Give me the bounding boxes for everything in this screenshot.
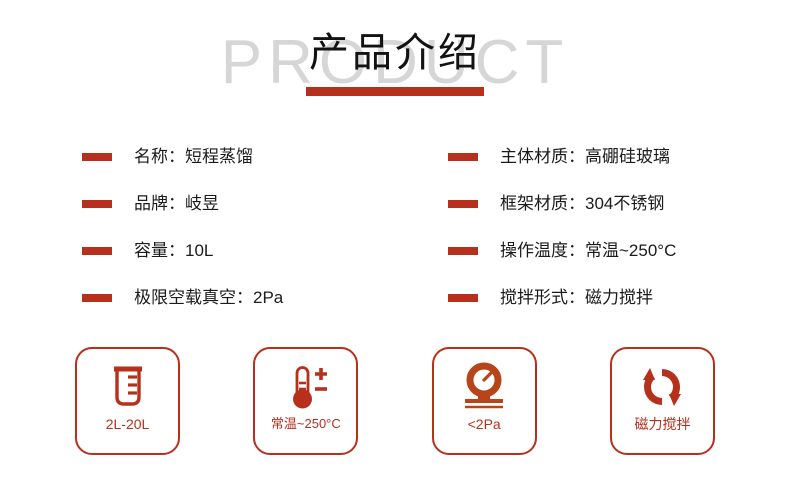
title-underline-bar bbox=[306, 87, 484, 96]
spec-row: 主体材质：高硼硅玻璃 bbox=[448, 133, 676, 180]
spec-label: 极限空载真空：2Pa bbox=[134, 289, 283, 306]
spec-column-left: 名称：短程蒸馏 品牌：岐昱 容量：10L 极限空载真空：2Pa bbox=[82, 133, 283, 321]
spec-row: 框架材质：304不锈钢 bbox=[448, 180, 676, 227]
dash-marker-icon bbox=[82, 153, 112, 161]
spec-column-right: 主体材质：高硼硅玻璃 框架材质：304不锈钢 操作温度：常温~250°C 搅拌形… bbox=[448, 133, 676, 321]
page-header: PRODUCT 产品介绍 bbox=[0, 0, 790, 112]
specification-list: 名称：短程蒸馏 品牌：岐昱 容量：10L 极限空载真空：2Pa 主体材质：高硼硅… bbox=[0, 133, 790, 323]
pressure-gauge-icon bbox=[458, 361, 510, 413]
feature-card-label: 常温~250°C bbox=[271, 417, 341, 430]
spec-label: 操作温度：常温~250°C bbox=[500, 242, 676, 259]
spec-row: 极限空载真空：2Pa bbox=[82, 274, 283, 321]
page-title: 产品介绍 bbox=[0, 33, 790, 73]
spec-label: 容量：10L bbox=[134, 242, 213, 259]
dash-marker-icon bbox=[448, 200, 478, 208]
spec-label: 主体材质：高硼硅玻璃 bbox=[500, 148, 670, 165]
spec-row: 品牌：岐昱 bbox=[82, 180, 283, 227]
feature-card-capacity: 2L-20L bbox=[75, 347, 180, 455]
feature-card-label: 2L-20L bbox=[106, 417, 150, 431]
dash-marker-icon bbox=[448, 247, 478, 255]
spec-row: 搅拌形式：磁力搅拌 bbox=[448, 274, 676, 321]
spec-label: 搅拌形式：磁力搅拌 bbox=[500, 289, 653, 306]
thermometer-icon bbox=[281, 361, 331, 413]
dash-marker-icon bbox=[82, 294, 112, 302]
dash-marker-icon bbox=[82, 200, 112, 208]
spec-row: 操作温度：常温~250°C bbox=[448, 227, 676, 274]
dash-marker-icon bbox=[82, 247, 112, 255]
feature-card-vacuum: <2Pa bbox=[432, 347, 537, 455]
spec-label: 名称：短程蒸馏 bbox=[134, 148, 253, 165]
spec-label: 框架材质：304不锈钢 bbox=[500, 195, 664, 212]
beaker-icon bbox=[105, 361, 151, 413]
dash-marker-icon bbox=[448, 294, 478, 302]
spec-row: 名称：短程蒸馏 bbox=[82, 133, 283, 180]
spec-label: 品牌：岐昱 bbox=[134, 195, 219, 212]
spec-row: 容量：10L bbox=[82, 227, 283, 274]
feature-card-label: <2Pa bbox=[468, 417, 501, 431]
feature-card-stirring: 磁力搅拌 bbox=[610, 347, 715, 455]
refresh-cycle-icon bbox=[637, 361, 687, 413]
feature-card-temperature: 常温~250°C bbox=[253, 347, 358, 455]
feature-card-row: 2L-20L 常温~250°C <2Pa bbox=[75, 347, 715, 457]
dash-marker-icon bbox=[448, 153, 478, 161]
feature-card-label: 磁力搅拌 bbox=[634, 417, 690, 431]
